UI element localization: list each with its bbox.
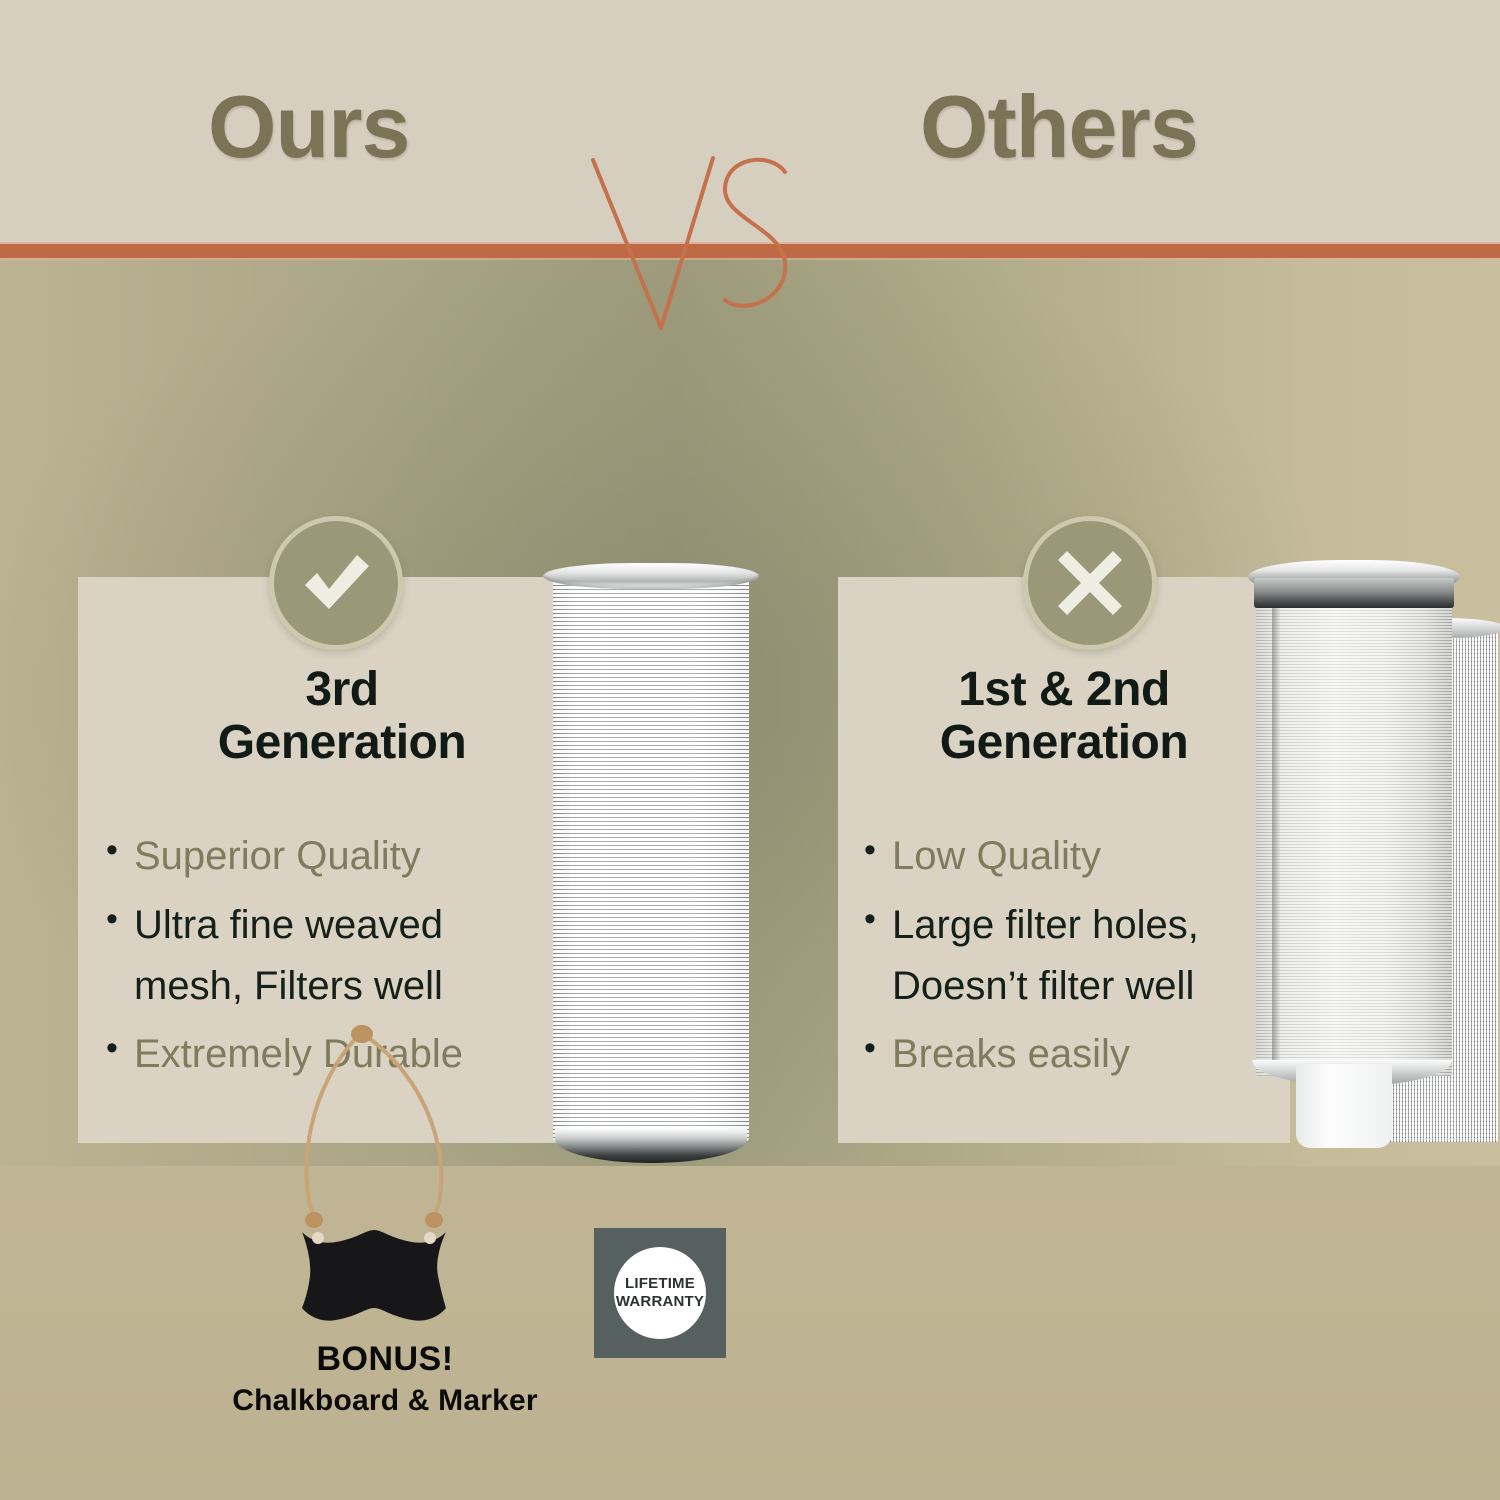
bonus-subline: Chalkboard & Marker xyxy=(150,1384,620,1418)
product-image-others xyxy=(1248,560,1500,1178)
title-others-line1: 1st & 2nd xyxy=(958,663,1170,716)
warranty-line1: LIFETIME xyxy=(625,1275,695,1293)
bonus-caption: BONUS! Chalkboard & Marker xyxy=(150,1340,620,1418)
header-divider xyxy=(0,244,1500,258)
cross-icon xyxy=(1055,548,1125,618)
filter-mesh-body xyxy=(553,577,749,1141)
background-floor xyxy=(0,1166,1500,1500)
coarse-filter-front-band xyxy=(1254,578,1454,608)
warranty-line2: WARRANTY xyxy=(616,1293,704,1311)
title-others: 1st & 2nd Generation xyxy=(838,664,1290,770)
warranty-circle: LIFETIME WARRANTY xyxy=(614,1247,706,1339)
header-title-others: Others xyxy=(920,76,1198,178)
header-band: Ours Others xyxy=(0,0,1500,244)
coarse-filter-front xyxy=(1256,578,1452,1076)
header-title-ours: Ours xyxy=(208,76,409,178)
check-icon xyxy=(297,547,375,619)
title-ours: 3rd Generation xyxy=(78,664,606,770)
coarse-filter-spout xyxy=(1296,1064,1392,1148)
list-item: Ultra fine weaved mesh, Filters well xyxy=(104,895,624,1017)
product-image-ours xyxy=(553,563,749,1163)
title-others-line2: Generation xyxy=(838,717,1290,770)
list-item: Superior Quality xyxy=(104,826,624,887)
coarse-filter-seam xyxy=(1272,594,1280,1064)
title-ours-line2: Generation xyxy=(78,717,606,770)
filter-bottom-rim xyxy=(555,1129,747,1163)
lifetime-warranty-badge: LIFETIME WARRANTY xyxy=(594,1228,726,1358)
filter-top-rim xyxy=(543,563,759,589)
comparison-infographic: Ours Others 3rd Generation Superior Qual… xyxy=(0,0,1500,1500)
check-badge xyxy=(269,516,403,650)
title-ours-line1: 3rd xyxy=(305,663,378,716)
bonus-headline: BONUS! xyxy=(150,1340,620,1379)
bonus-chalkboard-image xyxy=(262,1018,486,1348)
cross-badge xyxy=(1023,516,1157,650)
